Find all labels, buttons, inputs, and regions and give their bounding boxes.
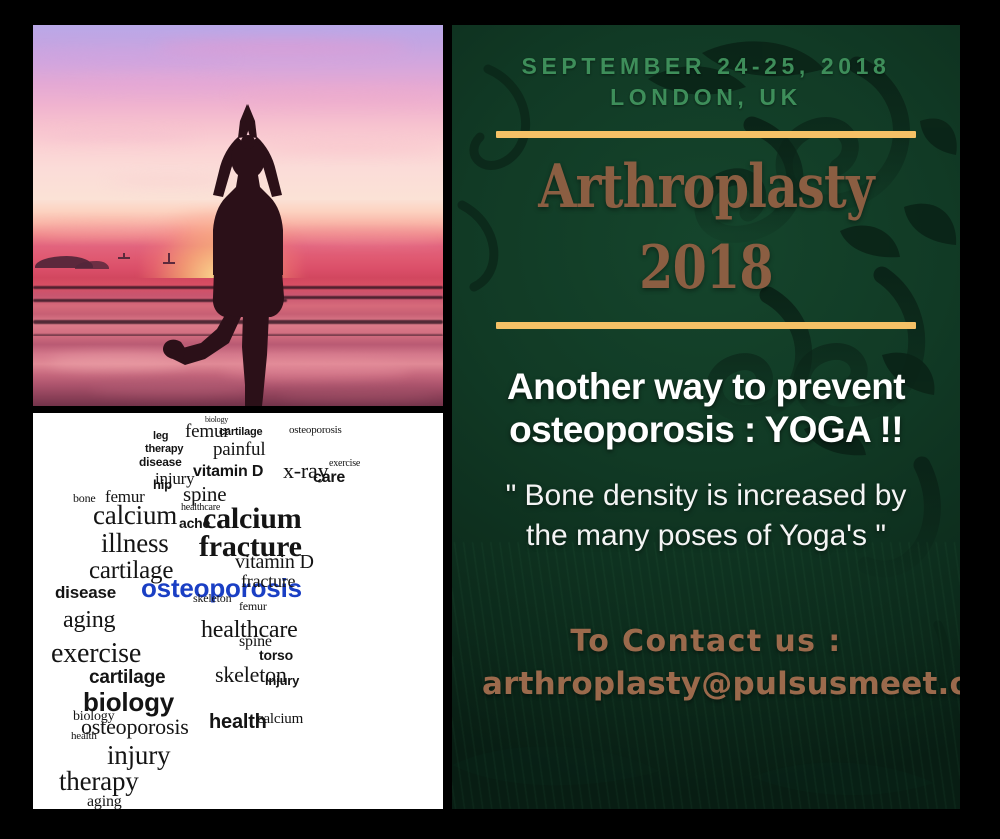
headline-line-2: osteoporosis : YOGA !!	[482, 408, 930, 452]
word-cloud-word: leg	[153, 431, 168, 441]
word-cloud-word: fracture	[241, 573, 295, 590]
word-cloud-word: aging	[87, 795, 122, 809]
word-cloud-word: biology	[73, 711, 114, 724]
word-cloud-word: injury	[265, 675, 299, 687]
word-cloud-word: aging	[63, 609, 115, 631]
word-cloud-word: ache	[179, 517, 210, 530]
word-cloud-word: calcium	[257, 713, 303, 727]
word-cloud-word: health	[71, 731, 97, 741]
right-text-panel: SEPTEMBER 24-25, 2018 LONDON, UK Arthrop…	[452, 25, 960, 809]
contact-email-address[interactable]: arthroplasty@pulsusmeet.org	[482, 666, 930, 702]
word-cloud-word: bone	[73, 493, 96, 504]
event-date-line-1: SEPTEMBER 24-25, 2018	[482, 51, 930, 82]
quote-line-1: " Bone density is increased by	[482, 476, 930, 516]
word-cloud-word: therapy	[59, 769, 139, 794]
divider-rule-top	[496, 131, 916, 138]
osteoporosis-word-cloud: legfemurtherapydiseaseinjurybiologycarti…	[33, 413, 443, 809]
word-cloud-word: disease	[139, 457, 182, 468]
word-cloud-word: exercise	[51, 641, 141, 667]
word-cloud-word: disease	[55, 585, 116, 601]
event-title-line-1: Arthroplasty	[522, 157, 889, 219]
yoga-pose-silhouette	[33, 25, 443, 406]
word-cloud-word: femur	[239, 601, 267, 612]
word-cloud-word: spine	[239, 635, 272, 650]
word-cloud-word: care	[313, 471, 345, 486]
word-cloud-word: calcium	[93, 503, 177, 528]
yoga-sunset-photo	[33, 25, 443, 406]
word-cloud-word: biology	[205, 416, 228, 423]
headline-line-1: Another way to prevent	[482, 365, 930, 409]
word-cloud-word: vitamin D	[193, 465, 263, 480]
word-cloud-word: illness	[101, 531, 169, 556]
word-cloud-word: therapy	[145, 444, 183, 454]
word-cloud-word: healthcare	[181, 503, 220, 512]
word-cloud-canvas: legfemurtherapydiseaseinjurybiologycarti…	[33, 413, 443, 809]
quote-line-2: the many poses of Yoga's "	[482, 516, 930, 556]
word-cloud-word: vitamin D	[235, 553, 314, 571]
word-cloud-word: painful	[213, 441, 265, 458]
word-cloud-word: injury	[107, 743, 170, 768]
event-date-location: LONDON, UK	[482, 82, 930, 113]
divider-rule-bottom	[496, 322, 916, 329]
word-cloud-word: exercise	[329, 459, 360, 468]
word-cloud-word: skeleton	[193, 593, 231, 604]
poster-root: legfemurtherapydiseaseinjurybiologycarti…	[0, 0, 1000, 839]
left-image-column: legfemurtherapydiseaseinjurybiologycarti…	[33, 25, 443, 809]
word-cloud-word: osteoporosis	[289, 425, 342, 435]
word-cloud-word: torso	[259, 649, 293, 662]
word-cloud-word: hip	[153, 479, 172, 491]
word-cloud-word: cartilage	[219, 427, 262, 437]
word-cloud-word: cartilage	[89, 669, 165, 686]
event-title-line-2: 2018	[522, 238, 889, 300]
contact-label: To Contact us :	[482, 624, 930, 659]
word-cloud-word: femur	[105, 489, 145, 505]
